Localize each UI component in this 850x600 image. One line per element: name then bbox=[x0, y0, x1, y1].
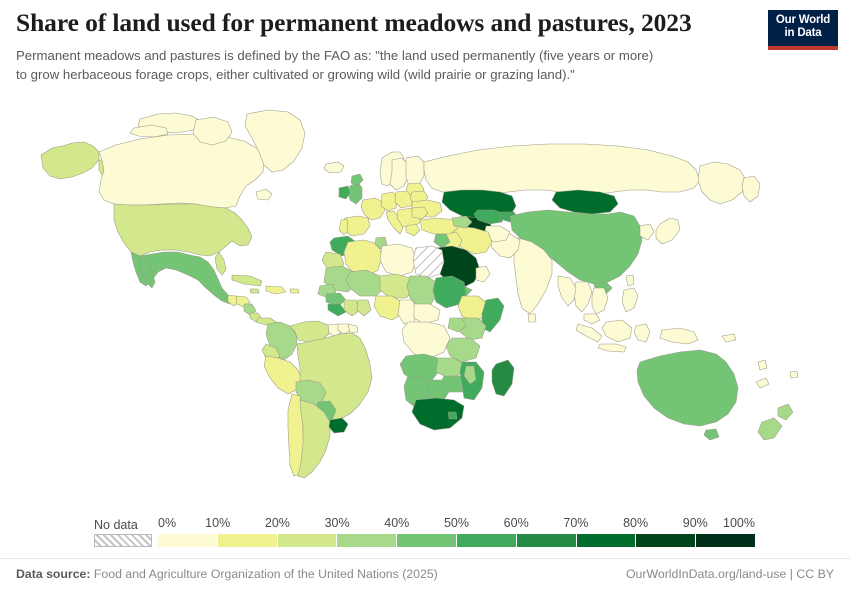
country-iceland[interactable] bbox=[324, 162, 344, 173]
legend-bin-10-20%[interactable] bbox=[218, 534, 278, 547]
map-legend: No data 0%10%20%30%40%50%60%70%80%90%100… bbox=[0, 505, 850, 553]
country-new-zealand-south[interactable] bbox=[758, 418, 782, 440]
country-french-guiana[interactable] bbox=[348, 324, 358, 333]
legend-bin-80-90%[interactable] bbox=[636, 534, 696, 547]
legend-tick-20pct: 20% bbox=[265, 516, 290, 530]
country-korea[interactable] bbox=[640, 224, 654, 240]
country-australia[interactable] bbox=[637, 350, 738, 426]
country-oman[interactable] bbox=[476, 266, 490, 282]
country-thailand[interactable] bbox=[574, 282, 592, 312]
country-vietnam[interactable] bbox=[592, 288, 608, 314]
legend-no-data-label: No data bbox=[94, 518, 138, 532]
owid-logo[interactable]: Our World in Data bbox=[768, 10, 838, 50]
country-uk-scotland[interactable] bbox=[351, 174, 363, 185]
legend-bin-90-100%[interactable] bbox=[696, 534, 755, 547]
legend-bin-50-60%[interactable] bbox=[457, 534, 517, 547]
legend-tick-10pct: 10% bbox=[205, 516, 230, 530]
country-indonesia-sulawesi[interactable] bbox=[634, 324, 650, 342]
legend-bin-30-40%[interactable] bbox=[337, 534, 397, 547]
country-new-caledonia[interactable] bbox=[756, 378, 769, 388]
country-tasmania[interactable] bbox=[704, 429, 719, 440]
data-source-value: Food and Agriculture Organization of the… bbox=[94, 567, 438, 581]
legend-bin-0-10%[interactable] bbox=[158, 534, 218, 547]
country-taiwan[interactable] bbox=[626, 275, 634, 286]
country-russia-kamchatka[interactable] bbox=[742, 176, 760, 202]
subtitle-line-1: Permanent meadows and pastures is define… bbox=[16, 47, 738, 66]
legend-tick-50pct: 50% bbox=[444, 516, 469, 530]
country-portugal[interactable] bbox=[339, 219, 348, 235]
legend-color-bar[interactable] bbox=[158, 534, 755, 547]
country-haiti-dominican[interactable] bbox=[266, 286, 286, 294]
country-turkey[interactable] bbox=[420, 218, 458, 234]
country-canada[interactable] bbox=[99, 134, 264, 208]
country-new-zealand-north[interactable] bbox=[778, 404, 793, 420]
country-nigeria[interactable] bbox=[374, 296, 402, 320]
country-canada-baffin-island[interactable] bbox=[193, 117, 232, 145]
country-indonesia-borneo[interactable] bbox=[602, 320, 632, 342]
chart-footer: Data source: Food and Agriculture Organi… bbox=[0, 558, 850, 589]
data-source-label: Data source: bbox=[16, 567, 91, 581]
country-madagascar[interactable] bbox=[492, 360, 514, 396]
legend-tick-80pct: 80% bbox=[623, 516, 648, 530]
country-ghana[interactable] bbox=[357, 300, 371, 316]
country-jamaica[interactable] bbox=[250, 289, 259, 293]
legend-tick-90pct: 90% bbox=[683, 516, 708, 530]
data-source: Data source: Food and Agriculture Organi… bbox=[16, 567, 438, 581]
country-mali[interactable] bbox=[346, 270, 384, 296]
country-cuba[interactable] bbox=[232, 275, 262, 286]
country-myanmar[interactable] bbox=[558, 276, 576, 306]
country-russia[interactable] bbox=[424, 144, 700, 194]
country-philippines[interactable] bbox=[622, 288, 638, 312]
country-japan[interactable] bbox=[656, 218, 680, 244]
country-sri-lanka[interactable] bbox=[528, 314, 536, 322]
chart-header: Share of land used for permanent meadows… bbox=[0, 0, 850, 100]
country-egypt[interactable] bbox=[413, 246, 444, 278]
legend-tick-100pct: 100% bbox=[723, 516, 755, 530]
legend-bin-70-80%[interactable] bbox=[577, 534, 637, 547]
country-indonesia-sumatra[interactable] bbox=[576, 324, 602, 342]
subtitle-line-2: to grow herbaceous forage crops, either … bbox=[16, 66, 738, 85]
country-greece[interactable] bbox=[406, 224, 420, 236]
chart-subtitle: Permanent meadows and pastures is define… bbox=[16, 47, 738, 84]
country-ireland[interactable] bbox=[339, 186, 350, 199]
country-solomon-islands[interactable] bbox=[722, 334, 736, 342]
country-indonesia-java[interactable] bbox=[598, 344, 626, 352]
country-puerto-rico[interactable] bbox=[290, 289, 299, 293]
country-lesotho[interactable] bbox=[448, 412, 457, 419]
legend-tick-40pct: 40% bbox=[384, 516, 409, 530]
country-fiji[interactable] bbox=[790, 371, 798, 378]
legend-bin-40-50%[interactable] bbox=[397, 534, 457, 547]
country-malaysia[interactable] bbox=[584, 314, 600, 324]
country-central-african-rep[interactable] bbox=[414, 304, 440, 324]
country-united-states[interactable] bbox=[114, 204, 252, 256]
owid-logo-line-1: Our World bbox=[768, 14, 838, 27]
country-us-florida[interactable] bbox=[215, 252, 226, 275]
country-sierra-leone-liberia[interactable] bbox=[328, 304, 346, 316]
page-title: Share of land used for permanent meadows… bbox=[16, 8, 746, 38]
legend-bin-20-30%[interactable] bbox=[278, 534, 338, 547]
legend-tick-70pct: 70% bbox=[563, 516, 588, 530]
country-papua-new-guinea[interactable] bbox=[660, 328, 698, 344]
world-choropleth-map[interactable] bbox=[0, 100, 850, 495]
footer-link[interactable]: OurWorldInData.org/land-use | CC BY bbox=[626, 567, 834, 581]
country-vanuatu[interactable] bbox=[758, 360, 767, 370]
country-dr-congo[interactable] bbox=[402, 322, 450, 358]
legend-tick-labels: 0%10%20%30%40%50%60%70%80%90%100% bbox=[158, 516, 755, 534]
legend-no-data-swatch[interactable] bbox=[94, 534, 152, 547]
legend-tick-60pct: 60% bbox=[504, 516, 529, 530]
country-russia-far-east[interactable] bbox=[698, 162, 746, 204]
owid-logo-rule bbox=[768, 46, 838, 50]
legend-bin-60-70%[interactable] bbox=[517, 534, 577, 547]
country-uruguay[interactable] bbox=[329, 418, 348, 433]
legend-tick-0pct: 0% bbox=[158, 516, 176, 530]
country-alaska[interactable] bbox=[41, 142, 99, 179]
country-canada-newfoundland[interactable] bbox=[256, 189, 272, 200]
country-sweden[interactable] bbox=[390, 158, 408, 190]
country-libya[interactable] bbox=[380, 244, 416, 276]
country-mongolia[interactable] bbox=[552, 190, 618, 214]
owid-logo-line-2: in Data bbox=[768, 27, 838, 40]
legend-tick-30pct: 30% bbox=[325, 516, 350, 530]
